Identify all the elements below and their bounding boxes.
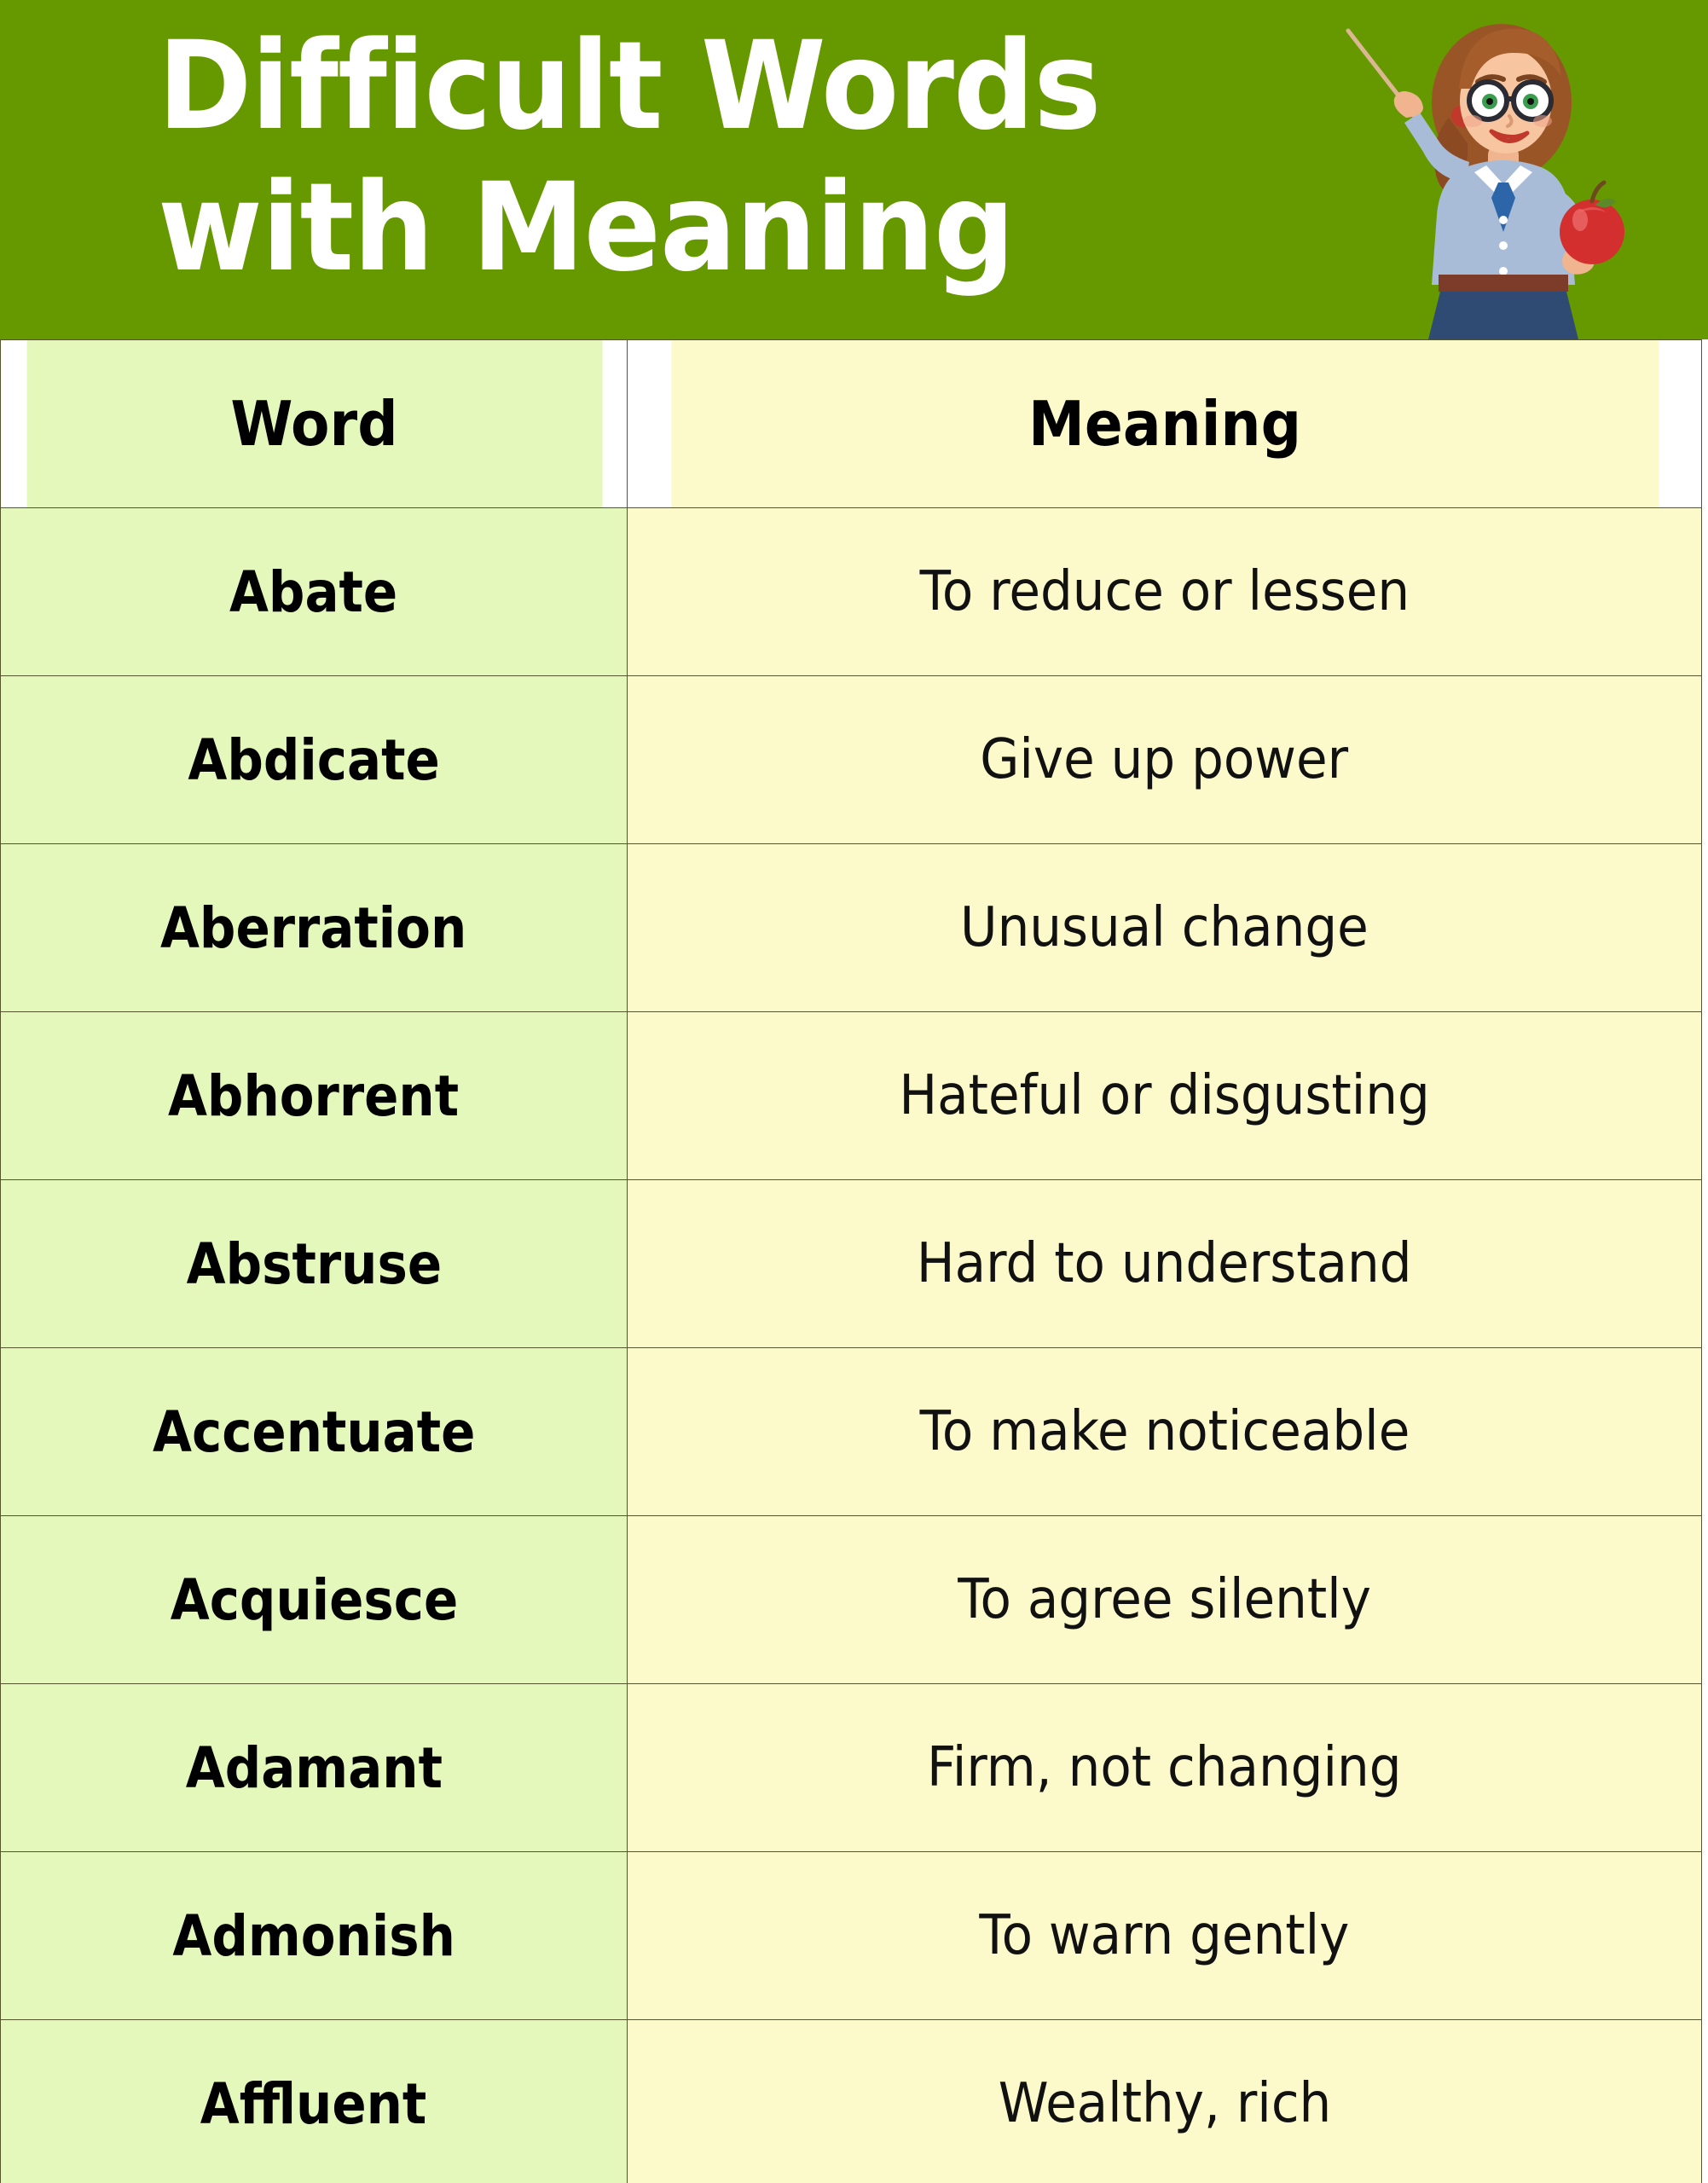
vocabulary-table: Word Meaning Abate To reduce or lessen A… — [0, 339, 1702, 2183]
cell-word: Adamant — [1, 1684, 628, 1852]
word-text: Aberration — [160, 895, 466, 961]
cell-word: Abhorrent — [1, 1012, 628, 1180]
cell-meaning: To make noticeable — [628, 1348, 1702, 1516]
cell-word: Affluent — [1, 2020, 628, 2183]
meaning-text: Give up power — [981, 728, 1349, 791]
word-text: Abdicate — [188, 727, 439, 793]
cell-word: Aberration — [1, 844, 628, 1012]
meaning-text: Wealthy, rich — [998, 2072, 1331, 2135]
teacher-illustration — [1299, 0, 1682, 339]
cell-word: Admonish — [1, 1852, 628, 2020]
meaning-text: To warn gently — [979, 1904, 1349, 1967]
column-header-meaning: Meaning — [670, 340, 1659, 508]
word-text: Abstruse — [186, 1231, 441, 1297]
meaning-text: To reduce or lessen — [919, 560, 1409, 623]
table-row: Affluent Wealthy, rich — [1, 2020, 1702, 2183]
word-text: Affluent — [200, 2071, 427, 2137]
table-body: Abate To reduce or lessen Abdicate Give … — [1, 508, 1702, 2183]
cell-word: Abstruse — [1, 1180, 628, 1348]
word-text: Abate — [229, 559, 397, 625]
cell-meaning: Firm, not changing — [628, 1684, 1702, 1852]
page-title: Difficult Words with Meaning — [158, 15, 1205, 298]
word-text: Acquiesce — [170, 1567, 458, 1633]
word-text: Admonish — [172, 1903, 455, 1969]
cell-word: Accentuate — [1, 1348, 628, 1516]
meaning-text: To make noticeable — [919, 1400, 1410, 1463]
table-row: Admonish To warn gently — [1, 1852, 1702, 2020]
cell-meaning: Wealthy, rich — [628, 2020, 1702, 2183]
table-row: Abhorrent Hateful or disgusting — [1, 1012, 1702, 1180]
cell-meaning: To reduce or lessen — [628, 508, 1702, 676]
table-row: Abdicate Give up power — [1, 676, 1702, 844]
word-text: Abhorrent — [168, 1063, 459, 1129]
word-text: Adamant — [185, 1735, 442, 1801]
word-text: Accentuate — [153, 1399, 475, 1465]
meaning-text: Hateful or disgusting — [899, 1064, 1429, 1127]
cell-word: Abate — [1, 508, 628, 676]
cell-meaning: Hateful or disgusting — [628, 1012, 1702, 1180]
table-row: Adamant Firm, not changing — [1, 1684, 1702, 1852]
table-row: Abstruse Hard to understand — [1, 1180, 1702, 1348]
vocabulary-infographic-page: Difficult Words with Meaning — [0, 0, 1708, 2183]
cell-word: Abdicate — [1, 676, 628, 844]
cell-meaning: To warn gently — [628, 1852, 1702, 2020]
cell-meaning: Unusual change — [628, 844, 1702, 1012]
meaning-text: To agree silently — [958, 1568, 1371, 1631]
table-row: Abate To reduce or lessen — [1, 508, 1702, 676]
meaning-text: Unusual change — [960, 896, 1369, 959]
cell-meaning: To agree silently — [628, 1516, 1702, 1684]
cell-meaning: Give up power — [628, 676, 1702, 844]
meaning-text: Hard to understand — [917, 1232, 1412, 1295]
cell-meaning: Hard to understand — [628, 1180, 1702, 1348]
meaning-text: Firm, not changing — [927, 1736, 1402, 1799]
table-header-row: Word Meaning — [1, 340, 1702, 508]
header-banner: Difficult Words with Meaning — [0, 0, 1708, 339]
table-row: Acquiesce To agree silently — [1, 1516, 1702, 1684]
table-row: Aberration Unusual change — [1, 844, 1702, 1012]
table-row: Accentuate To make noticeable — [1, 1348, 1702, 1516]
column-header-word: Word — [26, 340, 602, 508]
cell-word: Acquiesce — [1, 1516, 628, 1684]
